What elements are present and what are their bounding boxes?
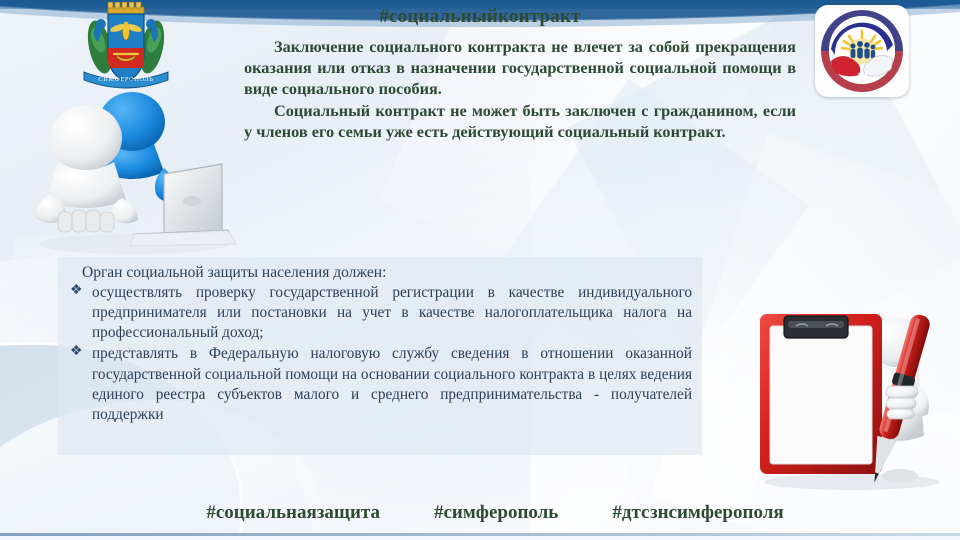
list-item: ❖ осуществлять проверку государственной … (68, 283, 692, 343)
list-item-text: представлять в Федеральную налоговую слу… (92, 345, 692, 422)
requirements-panel: Орган социальной защиты населения должен… (58, 257, 702, 455)
slide-canvas: СИМФЕРОПОЛЬ (0, 0, 960, 540)
page-title: #социальныйконтракт (260, 6, 700, 28)
clipboard-figure-illustration (748, 300, 956, 492)
social-protection-department-logo-icon (815, 5, 909, 97)
computer-figures-illustration (14, 86, 240, 258)
hashtag: #дтсзнсимферополя (612, 502, 783, 524)
hashtag: #симферополь (434, 502, 558, 524)
bottom-strip (0, 536, 960, 540)
intro-text: Заключение социального контракта не влеч… (244, 36, 796, 142)
intro-paragraph: Заключение социального контракта не влеч… (244, 36, 796, 99)
svg-text:СИМФЕРОПОЛЬ: СИМФЕРОПОЛЬ (98, 76, 153, 83)
diamond-bullet-icon: ❖ (70, 282, 83, 300)
panel-heading: Орган социальной защиты населения должен… (82, 263, 692, 282)
list-item: ❖ представлять в Федеральную налоговую с… (68, 344, 692, 424)
list-item-text: осуществлять проверку государственной ре… (92, 284, 692, 341)
footer-hashtags: #социальнаязащита #симферополь #дтсзнсим… (0, 502, 960, 524)
diamond-bullet-icon: ❖ (70, 343, 83, 361)
intro-paragraph: Социальный контракт не может быть заключ… (244, 100, 796, 142)
requirements-list: ❖ осуществлять проверку государственной … (68, 283, 692, 424)
simferopol-coat-of-arms-icon: СИМФЕРОПОЛЬ (78, 2, 174, 94)
hashtag: #социальнаязащита (206, 502, 380, 524)
